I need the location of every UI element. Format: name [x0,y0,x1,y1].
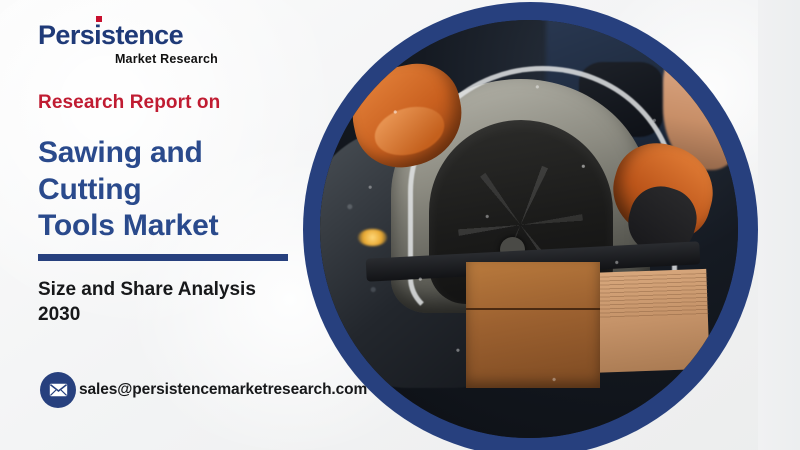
page-subtitle: Size and Share Analysis 2030 [38,278,256,327]
brand-logo-name-text: Persistence [38,20,183,50]
hero-photo-content [320,20,738,438]
page-title-line-1: Sawing and [38,135,218,172]
page-title: Sawing and Cutting Tools Market [38,135,218,245]
report-eyebrow: Research Report on [38,92,220,114]
page-subtitle-line-2: 2030 [38,303,256,328]
left-content-panel: Persistence Market Research Research Rep… [0,0,330,450]
brand-logo-name: Persistence [38,22,218,49]
envelope-icon [40,372,76,408]
brand-logo: Persistence Market Research [38,22,218,66]
marketing-banner: Persistence Market Research Research Rep… [0,0,800,450]
title-divider [38,254,288,261]
contact-email-row[interactable]: sales@persistencemarketresearch.com [40,372,367,408]
page-title-line-2: Cutting [38,172,218,209]
background-right-band [758,0,800,450]
logo-i-dot-icon [96,16,102,22]
photo-dust-particles [320,20,738,438]
brand-logo-tagline: Market Research [38,52,218,66]
hero-photo [320,20,738,438]
contact-email-text[interactable]: sales@persistencemarketresearch.com [79,381,367,399]
page-title-line-3: Tools Market [38,208,218,245]
page-subtitle-line-1: Size and Share Analysis [38,278,256,303]
